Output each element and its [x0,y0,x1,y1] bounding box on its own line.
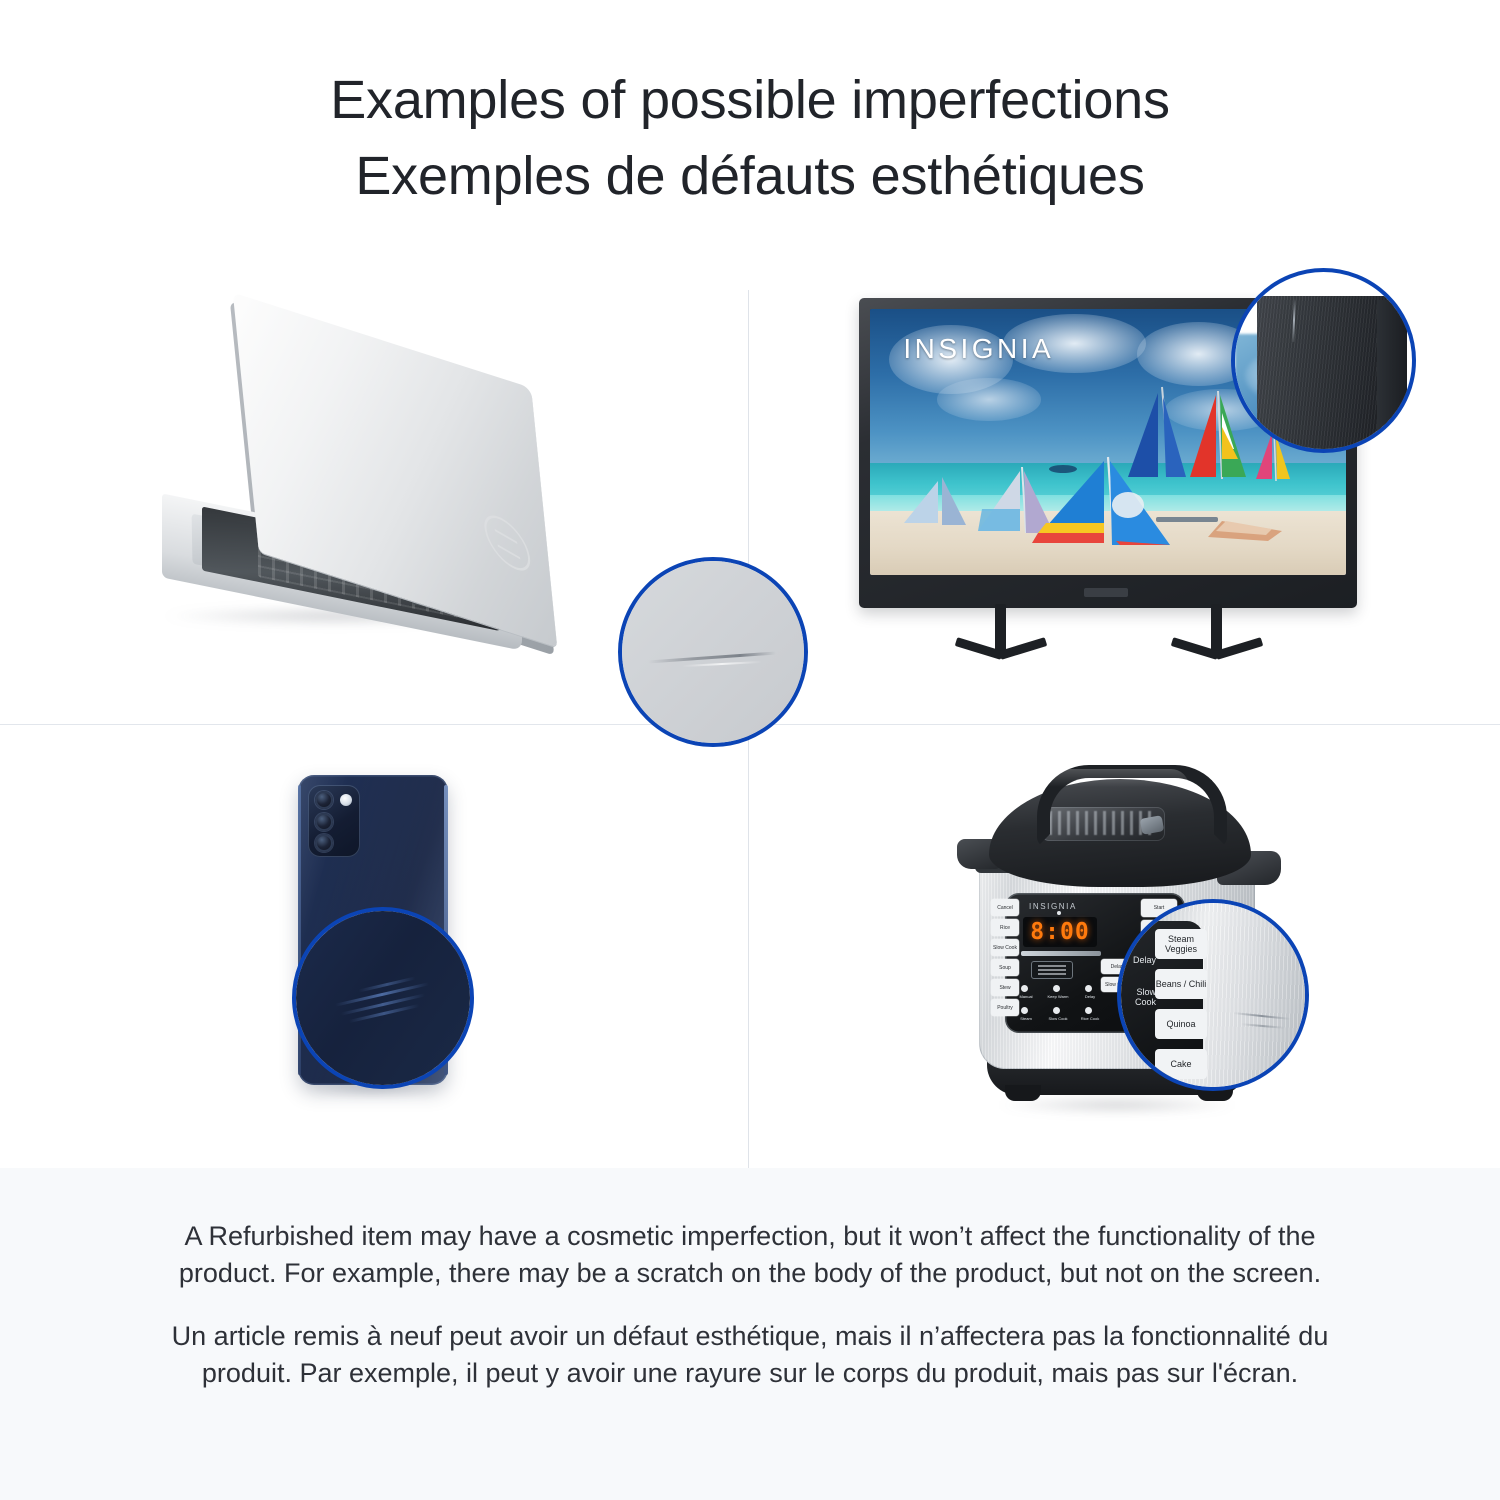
camera-lens-icon [315,813,333,831]
tv-ir-sensor [1084,588,1128,597]
example-cell-television: INSIGNIA [749,250,1500,724]
laptop-brand-logo-icon [480,506,534,580]
television-illustration: INSIGNIA [859,298,1359,678]
cooker-brand-label: INSIGNIA [1029,902,1077,911]
cooker-button[interactable]: Slow Cook [991,939,1019,956]
cooker-magnified-button: Quinoa [1155,1009,1207,1039]
circle-magnifier-tv [1231,268,1416,453]
circle-magnifier-cooker: Delay Slow Cook Steam Veggies Beans / Ch… [1117,899,1309,1091]
cooker-button[interactable]: Rice [991,919,1019,936]
page-title-fr: Exemples de défauts esthétiques [355,138,1144,214]
cooker-foot-left [1005,1085,1041,1101]
camera-lens-icon [315,791,333,809]
tv-leg-left [955,604,1051,662]
cooker-mode-bar [1021,951,1101,956]
page-footer: A Refurbished item may have a cosmetic i… [0,1168,1500,1500]
cooker-mini-label: Slow Cook [1046,1016,1070,1021]
cooker-mini-button-grid[interactable]: Manual Keep Warm Delay Steam Slow Cook R… [1019,983,1097,1027]
page-title-en: Examples of possible imperfections [330,62,1170,138]
examples-grid: INSIGNIA [0,250,1500,1168]
page-header: Examples of possible imperfections Exemp… [0,0,1500,250]
cooker-mini-label: Manual [1014,994,1038,999]
cooker-magnified-button: Beans / Chili [1155,969,1207,999]
cooker-lcd-display: 8:00 [1023,917,1097,947]
cooker-indicator-led [1057,911,1061,915]
pressure-cooker-illustration: INSIGNIA 8:00 Cancel Rice Slow Cook Soup… [949,747,1299,1147]
cooker-magnified-side-label: Delay [1117,955,1159,965]
magnifier-tv-surface [1235,272,1412,449]
cooker-handle-sheen [1049,769,1189,787]
camera-lens-icon [315,834,333,852]
example-cell-pressure-cooker: INSIGNIA 8:00 Cancel Rice Slow Cook Soup… [749,725,1500,1168]
camera-flash-icon [340,794,352,806]
cooker-mini-label: Keep Warm [1046,994,1070,999]
cooker-mini-label: Delay [1078,994,1102,999]
example-cell-laptop [0,250,748,724]
cooker-magnified-side-label: Slow Cook [1117,987,1159,1007]
tv-leg-right [1171,604,1267,662]
cooker-pressure-button[interactable] [1031,961,1073,979]
footer-paragraph-en: A Refurbished item may have a cosmetic i… [170,1218,1330,1292]
cooker-button[interactable]: Soup [991,959,1019,976]
tv-bezel-side-edge [1377,300,1407,449]
circle-magnifier-phone [292,907,474,1089]
cooker-magnified-button: Cake [1155,1049,1207,1079]
cooker-magnified-button: Steam Veggies [1155,929,1207,959]
magnifier-phone-surface [296,911,470,1085]
phone-camera-module [308,785,360,857]
cooker-button[interactable]: Poultry [991,999,1019,1016]
cooker-mini-label: Rice Cook [1078,1016,1102,1021]
cooker-magnified-buttons: Steam Veggies Beans / Chili Quinoa Cake [1155,929,1207,1079]
cooker-magnified-side-labels: Delay Slow Cook [1117,955,1159,1007]
laptop-illustration [150,345,600,645]
cooker-mini-label: Steam [1014,1016,1038,1021]
example-cell-smartphone [0,725,748,1168]
tv-screen-logo: INSIGNIA [903,333,1054,365]
refurbished-imperfections-infographic: Examples of possible imperfections Exemp… [0,0,1500,1500]
smartphone-illustration [270,775,480,1115]
cooker-button[interactable]: Cancel [991,899,1019,916]
cooker-display-value: 8:00 [1030,919,1089,945]
footer-paragraph-fr: Un article remis à neuf peut avoir un dé… [170,1318,1330,1392]
